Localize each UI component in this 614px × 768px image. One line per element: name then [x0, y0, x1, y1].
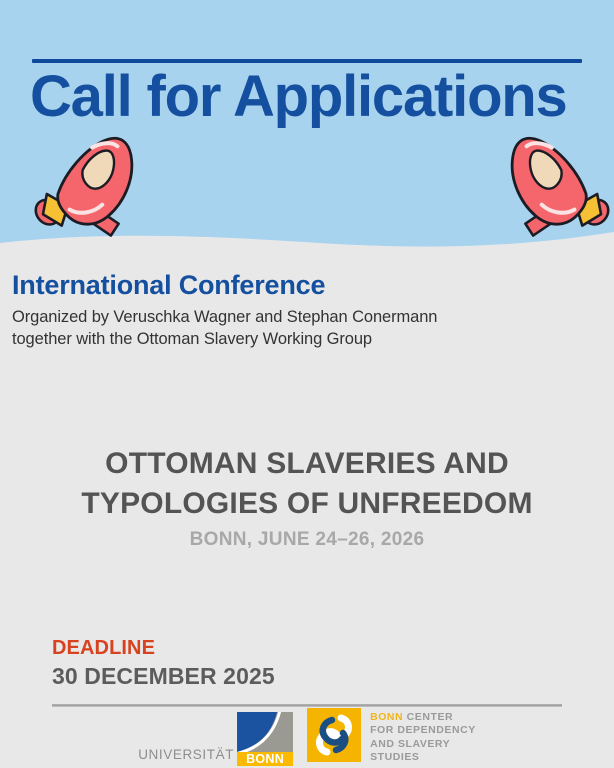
bonn-center-logo-mark	[307, 708, 361, 762]
organizer-line-2: together with the Ottoman Slavery Workin…	[12, 328, 602, 350]
hero-banner: Call for Applications	[0, 0, 614, 252]
event-title-line-1: OTTOMAN SLAVERIES AND	[0, 444, 614, 484]
bonn-center-line-3: AND SLAVERY	[370, 738, 476, 751]
bonn-center-line-4: STUDIES	[370, 751, 476, 764]
conference-block: International Conference Organized by Ve…	[12, 270, 602, 351]
deadline-date: 30 DECEMBER 2025	[52, 663, 275, 690]
megaphone-icon-left	[24, 130, 164, 252]
event-title-block: OTTOMAN SLAVERIES AND TYPOLOGIES OF UNFR…	[0, 444, 614, 551]
bonn-center-highlight: BONN	[370, 711, 403, 723]
bonn-center-line-1: BONN CENTER	[370, 711, 476, 724]
bonn-center-logo: BONN CENTER FOR DEPENDENCY AND SLAVERY S…	[307, 708, 476, 766]
chain-link-icon	[307, 708, 361, 762]
university-logo-square	[237, 712, 293, 752]
university-wordmark: UNIVERSITÄT	[138, 747, 234, 766]
university-of-bonn-logo: UNIVERSITÄT BONN	[138, 708, 293, 766]
organizer-line-1: Organized by Veruschka Wagner and Stepha…	[12, 306, 602, 328]
deadline-label: DEADLINE	[52, 637, 275, 660]
event-title-line-2: TYPOLOGIES OF UNFREEDOM	[0, 484, 614, 524]
event-location-date: BONN, JUNE 24–26, 2026	[0, 529, 614, 551]
poster-canvas: Call for Applications	[0, 0, 614, 768]
footer-rule	[52, 704, 562, 707]
bonn-center-line-1-rest: CENTER	[407, 711, 453, 723]
university-logo-blue-shape	[237, 712, 293, 752]
hero-top-rule	[32, 59, 582, 63]
conference-heading: International Conference	[12, 270, 602, 301]
page-title: Call for Applications	[30, 68, 590, 126]
footer-logo-row: UNIVERSITÄT BONN	[0, 708, 614, 768]
bonn-center-logo-text: BONN CENTER FOR DEPENDENCY AND SLAVERY S…	[370, 708, 476, 765]
deadline-block: DEADLINE 30 DECEMBER 2025	[52, 637, 275, 690]
megaphone-icon-right	[480, 130, 614, 252]
university-logo-mark: BONN	[237, 712, 293, 766]
bonn-center-line-2: FOR DEPENDENCY	[370, 724, 476, 737]
university-logo-badge: BONN	[237, 752, 293, 766]
